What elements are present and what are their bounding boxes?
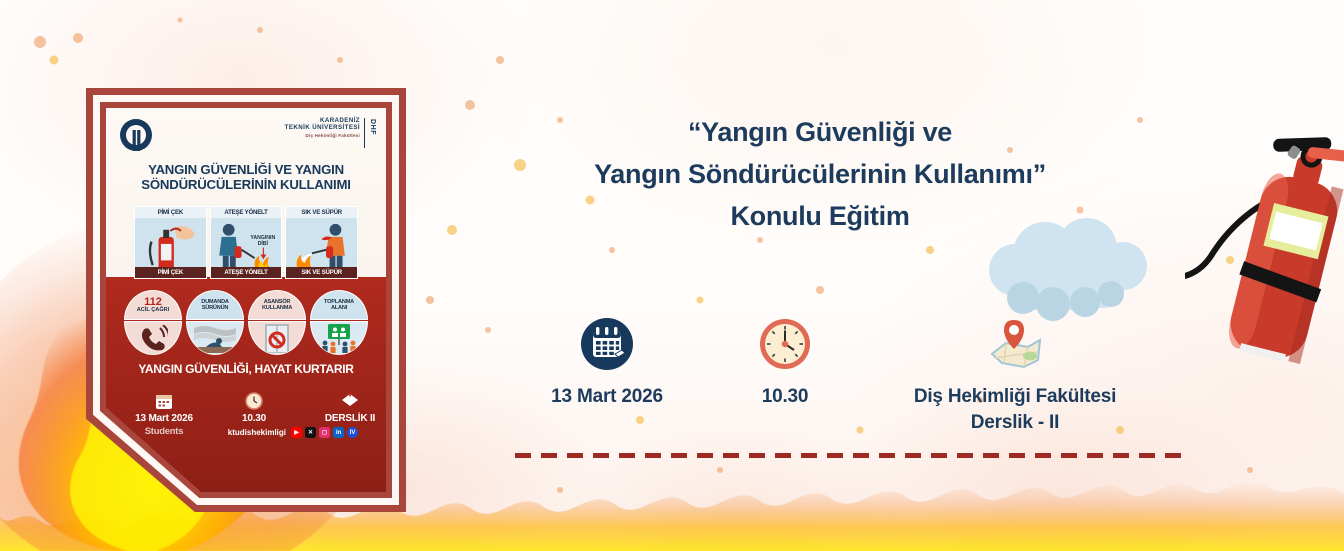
tip-label: TOPLANMAALANI [324, 299, 354, 311]
tip-label-bubble: 112 ACİL ÇAĞRI [124, 290, 182, 320]
phone-ring-icon [138, 325, 168, 351]
iptv-icon[interactable]: IV [347, 427, 358, 438]
tip-label: DUMANDASÜRÜNÜN [201, 299, 229, 311]
clock-icon [214, 390, 294, 412]
no-elevator-icon [262, 323, 292, 353]
event-details: 13 Mart 2026 10.30 [470, 316, 1170, 446]
university-name: KARADENİZ TEKNİK ÜNİVERSİTESİ Diş Hekiml… [285, 118, 360, 138]
poster-meta-room: DERSLİK II [300, 390, 386, 424]
clock-icon [710, 316, 860, 374]
spray-cloud-icon [975, 218, 1190, 323]
fire-extinguisher-illustration [1185, 118, 1344, 368]
steps-panels: PİMİ ÇEK PİMİ ÇEK ATEŞE YÖNELT [134, 206, 358, 279]
header-divider [364, 118, 365, 148]
poster-date: 13 Mart 2026 [124, 413, 204, 424]
step-caption: ATEŞE YÖNELT [211, 207, 282, 218]
calendar-icon [124, 390, 204, 412]
tip-label: ACİL ÇAĞRI [137, 308, 170, 314]
ktu-logo [118, 117, 154, 153]
map-pin-icon [870, 316, 1160, 374]
tip-icon-bubble [248, 321, 306, 355]
time-label: 10.30 [710, 384, 860, 410]
svg-text:DİBİ: DİBİ [257, 240, 268, 247]
social-bar: ktudishekimligi ▶ ✕ ◻ in IV [124, 427, 358, 438]
poster-title: YANGIN GÜVENLİĞİ VE YANGIN SÖNDÜRÜCÜLERİ… [112, 162, 380, 193]
step-panel: PİMİ ÇEK PİMİ ÇEK [134, 206, 207, 279]
headline-line-2: Yangın Söndürücülerinin Kullanımı” [470, 154, 1170, 196]
poster-title-line-1: YANGIN GÜVENLİĞİ VE YANGIN [112, 162, 380, 177]
tip-icon-bubble [310, 321, 368, 355]
tip-item: 112 ACİL ÇAĞRI [124, 290, 182, 356]
tip-item: ASANSÖRKULLANMA [248, 290, 306, 356]
tip-item: DUMANDASÜRÜNÜN [186, 290, 244, 356]
step-panel: ATEŞE YÖNELT YANGININ DİBİ [210, 206, 283, 279]
detail-time: 10.30 [710, 316, 860, 410]
tip-icon-bubble [124, 321, 182, 355]
lectern-icon [300, 390, 386, 412]
poster-meta: 13 Mart 2026 Students 10.30 DERSLİK II [124, 390, 370, 434]
x-twitter-icon[interactable]: ✕ [305, 427, 316, 438]
poster-time: 10.30 [214, 413, 294, 424]
tip-label-bubble: TOPLANMAALANI [310, 290, 368, 320]
detail-date: 13 Mart 2026 [512, 316, 702, 410]
poster-content: KARADENİZ TEKNİK ÜNİVERSİTESİ Diş Hekiml… [106, 108, 386, 492]
safety-tips: 112 ACİL ÇAĞRI DUMANDASÜRÜN [124, 290, 368, 356]
place-label: Diş Hekimliği Fakültesi Derslik - II [870, 384, 1160, 435]
place-line-2: Derslik - II [870, 410, 1160, 436]
event-poster: KARADENİZ TEKNİK ÜNİVERSİTESİ Diş Hekiml… [86, 88, 406, 512]
social-handle: ktudishekimligi [228, 428, 286, 437]
headline-line-1: “Yangın Güvenliği ve [470, 112, 1170, 154]
step-footer: PİMİ ÇEK [135, 267, 206, 278]
tip-label-bubble: DUMANDASÜRÜNÜN [186, 290, 244, 320]
dashed-divider [515, 453, 1187, 458]
instagram-icon[interactable]: ◻ [319, 427, 330, 438]
university-line-2: TEKNİK ÜNİVERSİTESİ [285, 125, 360, 132]
youtube-icon[interactable]: ▶ [291, 427, 302, 438]
tip-label: ASANSÖRKULLANMA [262, 299, 292, 311]
faculty-line: Diş Hekimliği Fakültesi [285, 133, 360, 138]
step-panel: SIK VE SÜPÜR SIK VE SÜPÜR [285, 206, 358, 279]
event-banner: KARADENİZ TEKNİK ÜNİVERSİTESİ Diş Hekiml… [0, 0, 1344, 551]
step-caption: SIK VE SÜPÜR [286, 207, 357, 218]
poster-header: KARADENİZ TEKNİK ÜNİVERSİTESİ Diş Hekiml… [116, 116, 378, 154]
step-footer: ATEŞE YÖNELT [211, 267, 282, 278]
poster-room: DERSLİK II [300, 413, 386, 424]
crawl-smoke-icon [194, 323, 236, 353]
tip-label-bubble: ASANSÖRKULLANMA [248, 290, 306, 320]
calendar-icon [512, 316, 702, 374]
step-caption: PİMİ ÇEK [135, 207, 206, 218]
poster-meta-time: 10.30 [214, 390, 294, 424]
linkedin-icon[interactable]: in [333, 427, 344, 438]
detail-place: Diş Hekimliği Fakültesi Derslik - II [870, 316, 1160, 435]
poster-title-line-2: SÖNDÜRÜCÜLERİNİN KULLANIMI [112, 177, 380, 192]
poster-slogan: YANGIN GÜVENLİĞİ, HAYAT KURTARIR [106, 362, 386, 376]
assembly-point-icon [319, 323, 359, 353]
emergency-number: 112 ACİL ÇAĞRI [137, 297, 170, 314]
dhf-abbreviation: DHF [369, 119, 376, 135]
step-footer: SIK VE SÜPÜR [286, 267, 357, 278]
date-label: 13 Mart 2026 [512, 384, 702, 410]
tip-icon-bubble [186, 321, 244, 355]
tip-item: TOPLANMAALANI [310, 290, 368, 356]
place-line-1: Diş Hekimliği Fakültesi [870, 384, 1160, 410]
